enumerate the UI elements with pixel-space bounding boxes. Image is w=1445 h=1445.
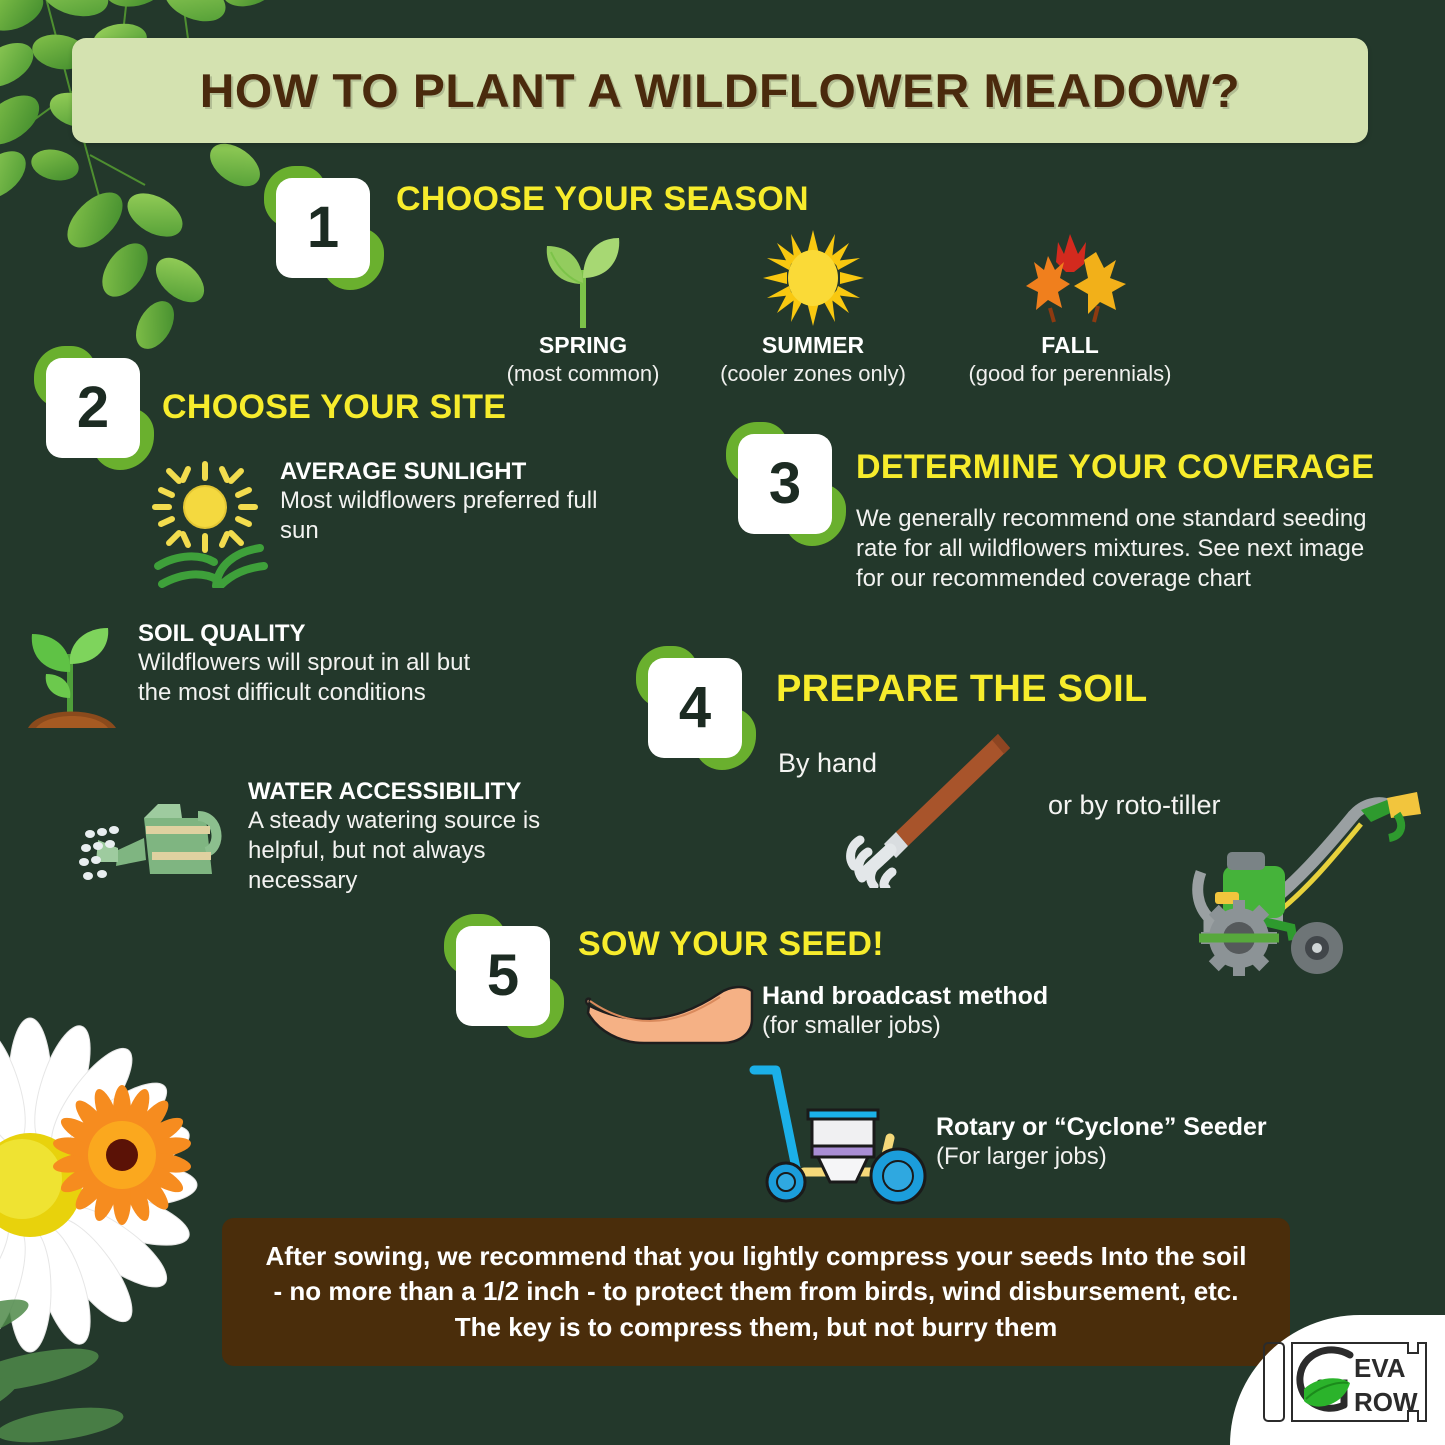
badge-plate: 5	[456, 926, 550, 1026]
method-rotary-seeder: Rotary or “Cyclone” Seeder (For larger j…	[936, 1113, 1267, 1172]
footer-note-box: After sowing, we recommend that you ligh…	[222, 1218, 1290, 1366]
maple-leaves-icon	[955, 228, 1185, 328]
footer-note-line-3: The key is to compress them, but not bur…	[266, 1310, 1247, 1345]
step-heading-2: CHOOSE YOUR SITE	[162, 388, 506, 427]
season-note: (good for perennials)	[955, 361, 1185, 387]
logo: EVA ROW	[1230, 1315, 1445, 1445]
season-name: SPRING	[468, 332, 698, 359]
step-number-5: 5	[487, 947, 519, 1005]
watering-can-icon	[78, 778, 228, 895]
method-hand-broadcast: Hand broadcast method (for smaller jobs)	[762, 982, 1048, 1041]
step-number-3: 3	[769, 455, 801, 513]
feature-body: A steady watering source is helpful, but…	[248, 806, 598, 895]
badge-plate: 4	[648, 658, 742, 758]
method-note: (for smaller jobs)	[762, 1011, 1048, 1041]
roto-tiller-icon	[1165, 780, 1435, 980]
feature-soil-quality: SOIL QUALITY Wildflowers will sprout in …	[18, 620, 538, 740]
feature-water-accessibility: WATER ACCESSIBILITY A steady watering so…	[78, 778, 598, 895]
badge-plate: 2	[46, 358, 140, 458]
step-number-4: 4	[679, 679, 711, 737]
step-badge-5: 5	[448, 920, 560, 1032]
feature-title: AVERAGE SUNLIGHT	[280, 458, 638, 486]
open-hand-icon	[580, 975, 756, 1045]
season-name: FALL	[955, 332, 1185, 359]
step-heading-4: PREPARE THE SOIL	[776, 668, 1147, 711]
logo-word-bottom: ROW	[1354, 1387, 1418, 1417]
method-title: Rotary or “Cyclone” Seeder	[936, 1113, 1267, 1142]
step-badge-4: 4	[640, 652, 752, 764]
title-banner: HOW TO PLANT A WILDFLOWER MEADOW?	[72, 38, 1368, 143]
step-number-2: 2	[77, 379, 109, 437]
sun-over-field-icon	[148, 458, 268, 588]
method-note: (For larger jobs)	[936, 1142, 1267, 1172]
season-name: SUMMER	[698, 332, 928, 359]
step-3-body: We generally recommend one standard seed…	[856, 504, 1376, 593]
footer-note-line-1: After sowing, we recommend that you ligh…	[266, 1239, 1247, 1274]
badge-plate: 3	[738, 434, 832, 534]
step-badge-1: 1	[268, 172, 380, 284]
step-badge-2: 2	[38, 352, 150, 464]
sprout-in-soil-icon	[18, 620, 126, 740]
feature-title: SOIL QUALITY	[138, 620, 508, 648]
rake-icon	[840, 728, 1015, 888]
feature-title: WATER ACCESSIBILITY	[248, 778, 598, 806]
footer-note-text: After sowing, we recommend that you ligh…	[248, 1239, 1265, 1344]
sun-icon	[698, 228, 928, 328]
step-heading-5: SOW YOUR SEED!	[578, 925, 884, 964]
feature-body: Wildflowers will sprout in all but the m…	[138, 648, 508, 708]
footer-note-line-2: - no more than a 1/2 inch - to protect t…	[266, 1274, 1247, 1309]
season-fall: FALL (good for perennials)	[955, 228, 1185, 387]
method-title: Hand broadcast method	[762, 982, 1048, 1011]
logo-word-top: EVA	[1354, 1353, 1406, 1383]
step-heading-3: DETERMINE YOUR COVERAGE	[856, 448, 1374, 487]
geva-grow-logo-icon: EVA ROW	[1258, 1331, 1433, 1431]
seedling-icon	[468, 228, 698, 328]
step-badge-3: 3	[730, 428, 842, 540]
feature-body: Most wildflowers preferred full sun	[280, 486, 638, 546]
season-note: (cooler zones only)	[698, 361, 928, 387]
rotary-seeder-icon	[742, 1060, 942, 1210]
season-note: (most common)	[468, 361, 698, 387]
feature-average-sunlight: AVERAGE SUNLIGHT Most wildflowers prefer…	[148, 458, 638, 588]
season-spring: SPRING (most common)	[468, 228, 698, 387]
step-heading-1: CHOOSE YOUR SEASON	[396, 180, 809, 219]
badge-plate: 1	[276, 178, 370, 278]
step-number-1: 1	[307, 199, 339, 257]
page-title: HOW TO PLANT A WILDFLOWER MEADOW?	[200, 63, 1240, 118]
infographic-canvas: HOW TO PLANT A WILDFLOWER MEADOW? 1 CHOO…	[0, 0, 1445, 1445]
season-summer: SUMMER (cooler zones only)	[698, 228, 928, 387]
